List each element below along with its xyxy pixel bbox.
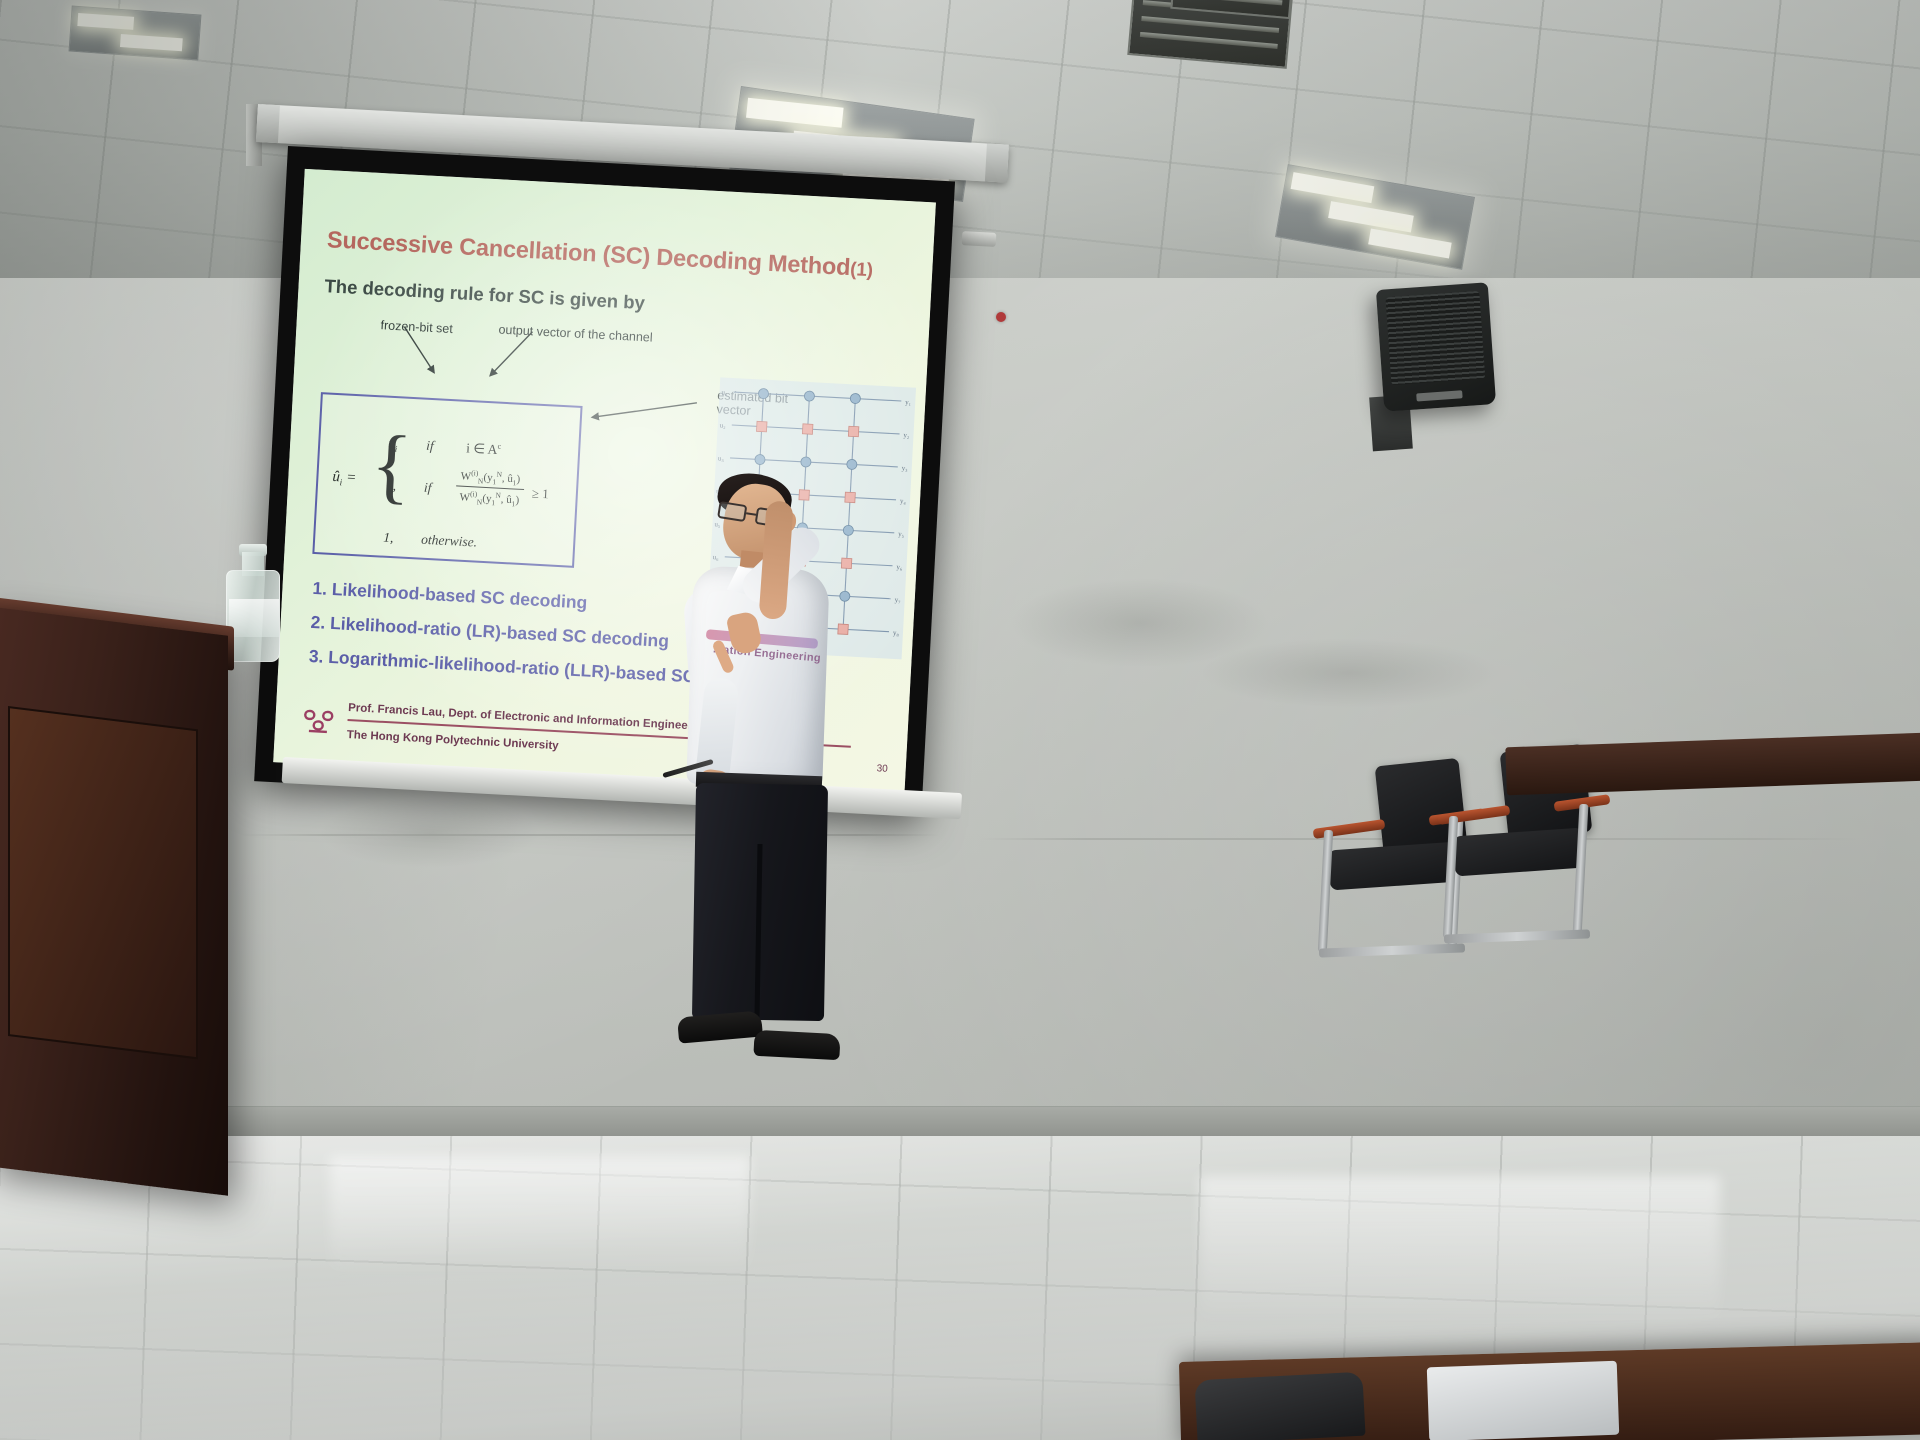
- wall-smudge: [1200, 638, 1500, 708]
- formula-case3-text: otherwise.: [421, 532, 478, 551]
- laptop: [1427, 1361, 1619, 1440]
- chair-frame-leg: [1318, 830, 1333, 952]
- formula-case3-value: 1,: [383, 530, 394, 547]
- floor-reflection: [330, 1156, 750, 1276]
- chair-seat: [1453, 828, 1585, 877]
- annotation-frozen-bit-set: frozen-bit set: [380, 318, 453, 336]
- podium-front-panel: [8, 706, 198, 1059]
- footer-university: The Hong Kong Polytechnic University: [346, 729, 558, 752]
- slide-title-index: (1): [850, 259, 874, 281]
- annotation-output-vector: output vector of the channel: [498, 322, 653, 344]
- presenter: ...ation Engineering: [640, 448, 880, 1058]
- speaker-grill: [1385, 291, 1485, 385]
- wall-sensor: [962, 231, 997, 247]
- wall-smudge: [320, 798, 540, 868]
- svg-text:y₂: y₂: [903, 431, 910, 439]
- presenter-shoe-left: [677, 1010, 763, 1043]
- chair-frame-leg: [1443, 816, 1458, 938]
- bottle-body: [226, 570, 280, 662]
- svg-text:y₄: y₄: [900, 497, 907, 505]
- wall-baseboard: [0, 1106, 1920, 1140]
- lecture-hall-photo: Successive Cancellation (SC) Decoding Me…: [0, 0, 1920, 1440]
- formula-likelihood-ratio: W(i)N(y1N, û1) W(i)N(y1N, û1): [455, 467, 525, 508]
- chair-frame-base: [1444, 929, 1590, 943]
- chair-headrest-foreground: [1194, 1372, 1365, 1440]
- speaker-badge: [1416, 390, 1462, 401]
- svg-text:y₆: y₆: [896, 563, 903, 571]
- bottle-label: [229, 599, 279, 637]
- svg-text:y₃: y₃: [902, 464, 909, 472]
- formula-case1-value: ui: [388, 436, 398, 454]
- formula-case2-if: if: [424, 480, 432, 496]
- annotation-row: frozen-bit set output vector of the chan…: [322, 315, 909, 372]
- water-bottle: [226, 544, 280, 662]
- svg-text:y₁: y₁: [905, 398, 911, 406]
- svg-text:u₂: u₂: [720, 421, 727, 429]
- wall-loudspeaker: [1376, 282, 1496, 412]
- formula-case1-condition: i ∈ Ac: [466, 440, 502, 458]
- presenter-shoe-right: [753, 1030, 840, 1060]
- formula-lhs: ûi =: [332, 469, 357, 488]
- slide-title: Successive Cancellation (SC) Decoding Me…: [326, 226, 913, 284]
- sc-decoding-formula: ûi = { ui if i ∈ Ac 0, if W(i)N(: [335, 423, 575, 436]
- svg-text:y₇: y₇: [894, 596, 901, 604]
- svg-text:u₁: u₁: [721, 388, 727, 396]
- svg-text:y₈: y₈: [893, 629, 900, 637]
- formula-case2-value: 0,: [386, 478, 397, 495]
- polyu-logo-icon: [300, 704, 338, 742]
- formula-ratio-denominator: W(i)N(y1N, û1): [455, 486, 524, 508]
- wall-indicator-dot: [996, 312, 1006, 322]
- formula-ratio-threshold: ≥ 1: [531, 485, 549, 502]
- slide-title-text: Successive Cancellation (SC) Decoding Me…: [326, 226, 851, 280]
- floor-reflection: [1200, 1176, 1720, 1326]
- formula-box: ûi = { ui if i ∈ Ac 0, if W(i)N(: [312, 392, 582, 568]
- formula-case1-if: if: [426, 438, 434, 454]
- svg-text:y₅: y₅: [898, 530, 905, 538]
